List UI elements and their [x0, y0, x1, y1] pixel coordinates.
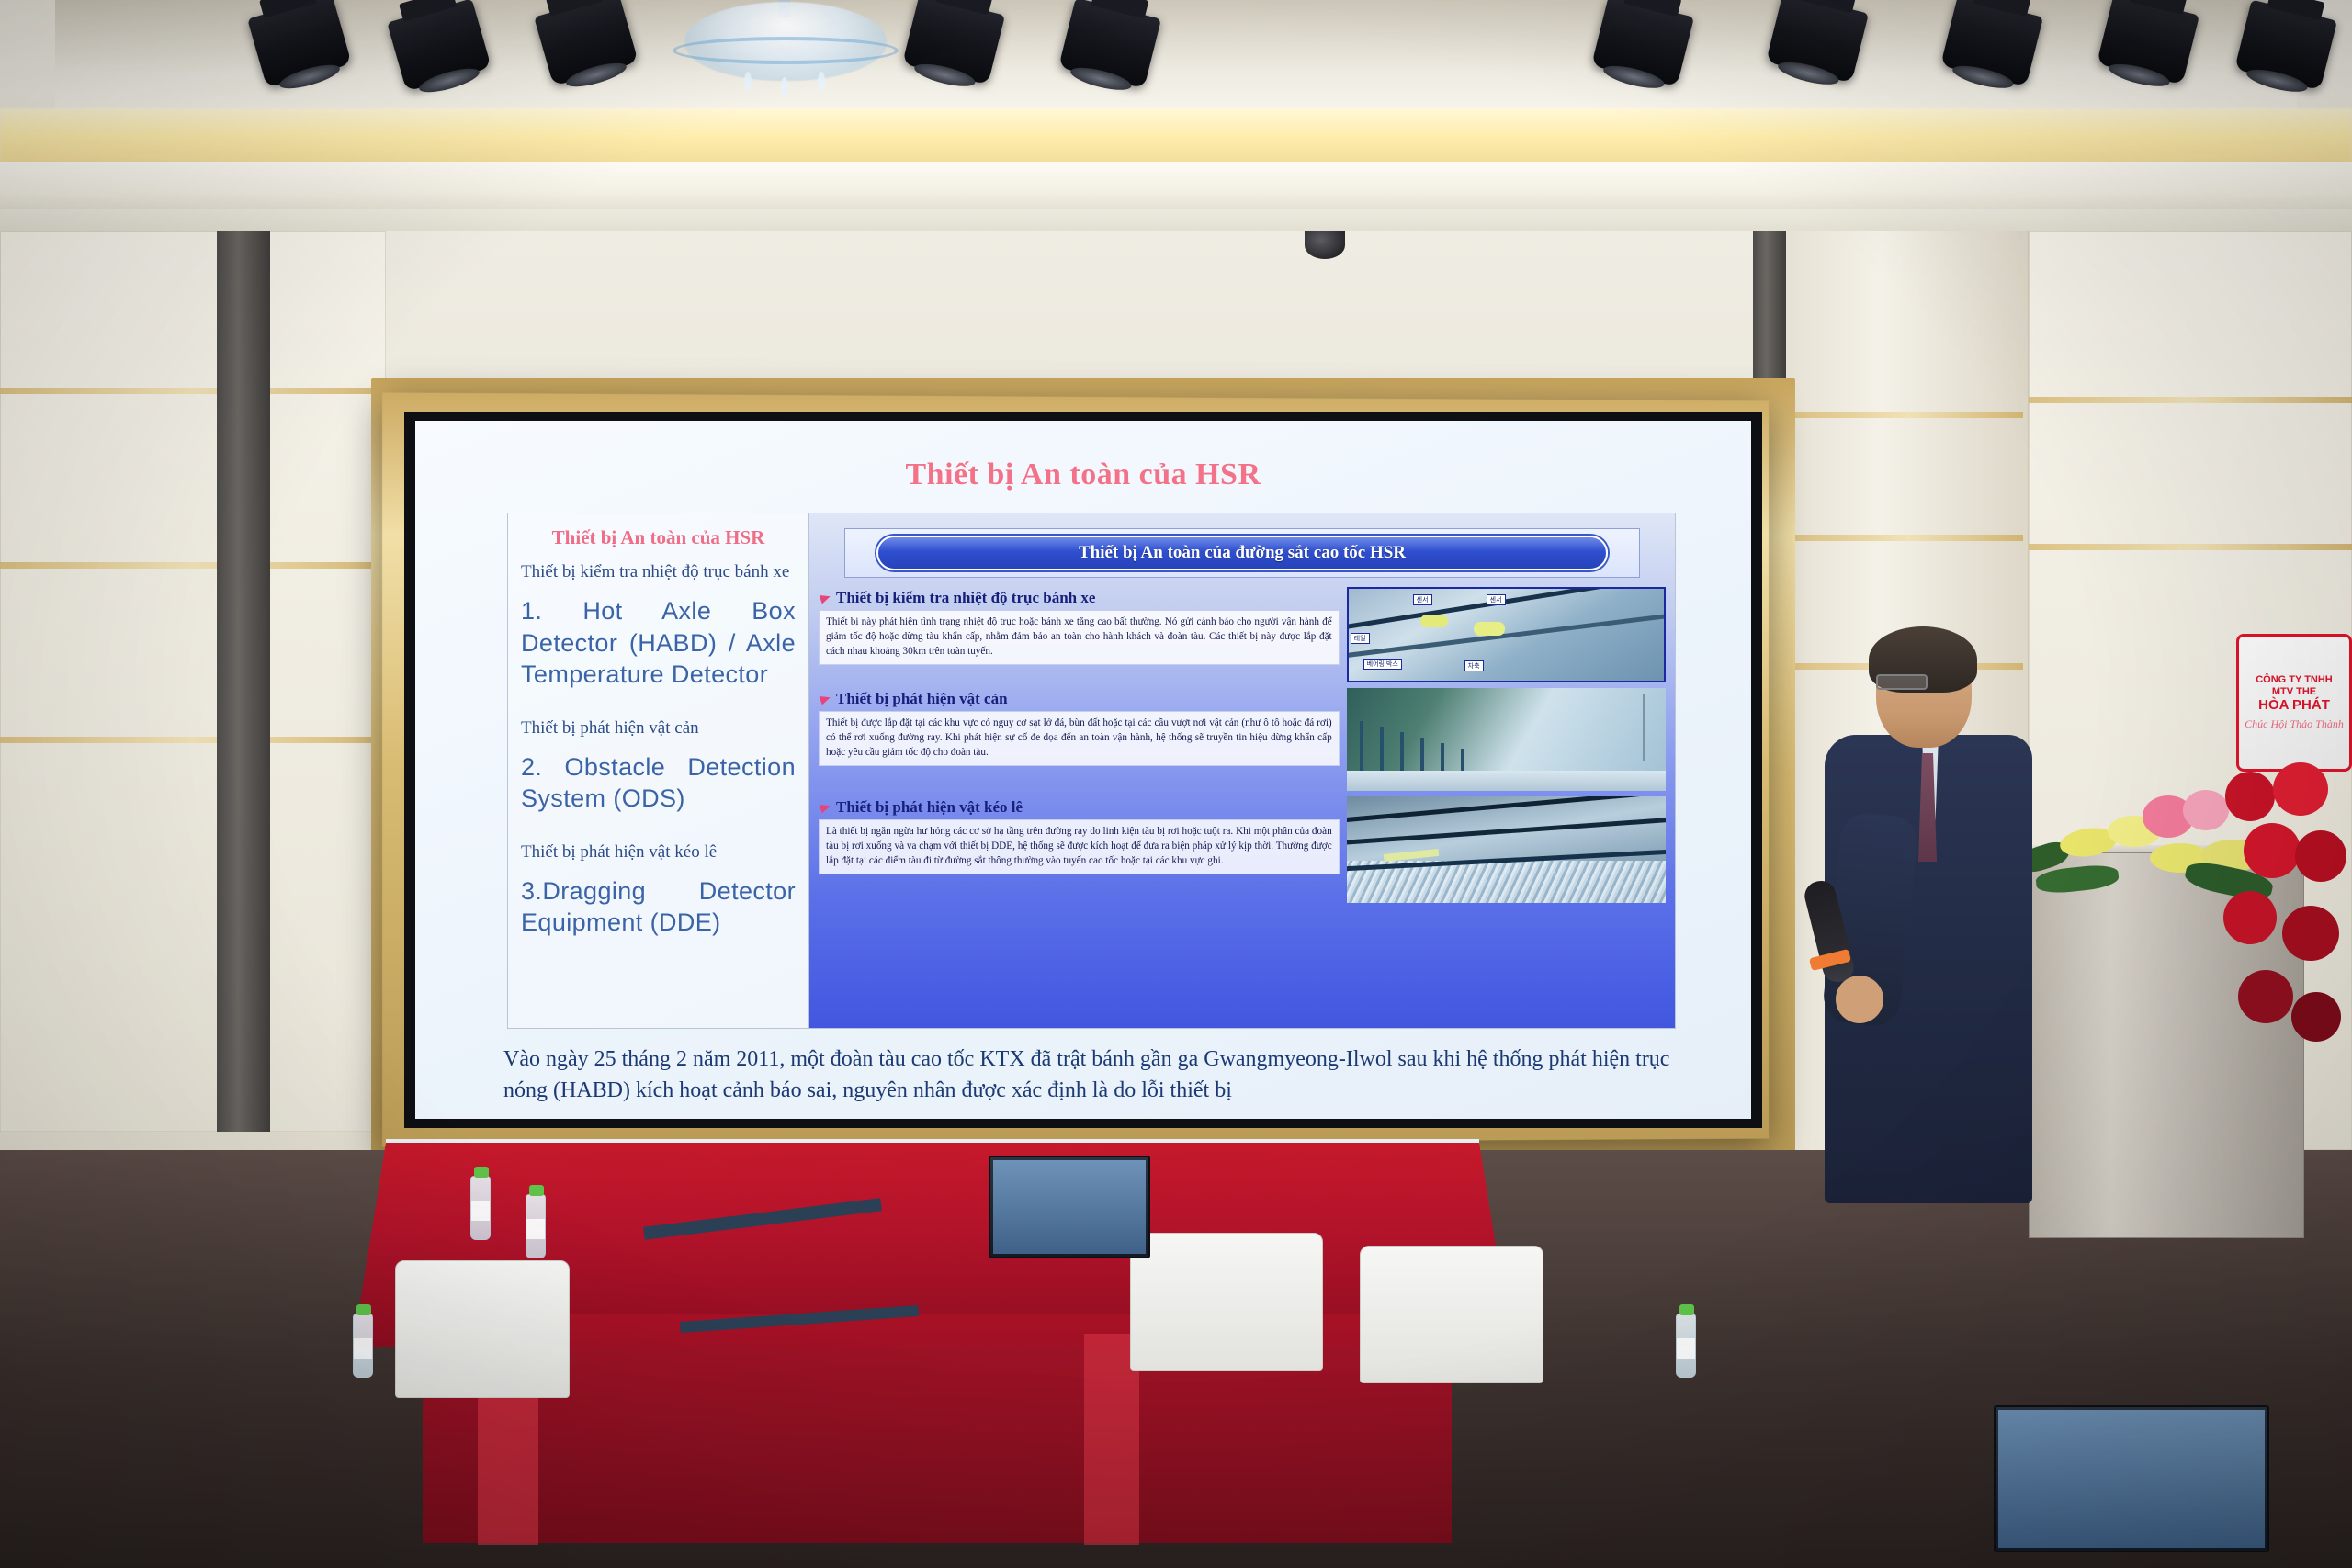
presenter — [1819, 634, 2040, 1203]
flower-red — [2295, 830, 2346, 882]
flower-red — [2223, 891, 2277, 944]
chair-back — [1360, 1246, 1543, 1383]
company-sign-line1: CÔNG TY TNHH MTV THE — [2245, 674, 2344, 696]
laptop[interactable] — [1994, 1405, 2269, 1552]
screen-outer-frame — [382, 392, 1769, 1146]
eyeglasses-icon — [1876, 674, 1928, 690]
ceiling-lip — [0, 162, 2352, 215]
laptop-screen — [993, 1160, 1146, 1254]
bottle-label — [354, 1338, 372, 1359]
flower-red — [2244, 823, 2301, 878]
wall-gold-trim — [0, 388, 386, 394]
ceiling-spotlight — [2234, 0, 2337, 90]
bottle-label — [1677, 1338, 1695, 1359]
wall-dark-column — [217, 231, 270, 1132]
flower-red — [2225, 772, 2275, 821]
presenter-hand — [1836, 976, 1883, 1023]
water-bottle — [1676, 1314, 1696, 1378]
water-bottle — [470, 1176, 491, 1240]
security-camera-dome — [1305, 231, 1345, 259]
red-flower-stand — [2220, 762, 2352, 1157]
wall-panel-left — [0, 231, 386, 1132]
ceiling-spotlight — [1766, 0, 1869, 83]
water-bottle — [526, 1194, 546, 1258]
chandelier — [634, 0, 937, 103]
company-sign-line3: Chúc Hội Thảo Thành — [2245, 717, 2344, 731]
wall-gold-trim — [1793, 412, 2023, 418]
ceiling-spotlight — [1591, 0, 1694, 86]
company-sign-line2: HÒA PHÁT — [2258, 697, 2330, 713]
wall-gold-trim — [2029, 397, 2352, 403]
flower-red — [2238, 970, 2293, 1023]
ceiling-spotlight — [1940, 0, 2043, 86]
wall-gold-trim — [1793, 535, 2023, 541]
chair-back — [1130, 1233, 1323, 1371]
company-sign: CÔNG TY TNHH MTV THE HÒA PHÁT Chúc Hội T… — [2236, 634, 2352, 772]
ceiling — [0, 0, 2352, 266]
wall-gold-trim — [2029, 544, 2352, 550]
laptop[interactable] — [989, 1156, 1150, 1258]
ceiling-spotlight — [2097, 0, 2199, 85]
chandelier-crystal — [744, 72, 752, 92]
chair-back — [395, 1260, 570, 1398]
flower-red — [2282, 906, 2339, 961]
bottle-label — [471, 1201, 490, 1221]
wall-gold-trim — [0, 737, 386, 743]
ceiling-spotlight — [902, 0, 1005, 85]
laptop-screen — [1998, 1410, 2265, 1548]
chandelier-ring — [673, 37, 899, 64]
conference-photo-scene: Thiết bị An toàn của HSR Thiết bị An toà… — [0, 0, 2352, 1568]
flower-red — [2273, 762, 2328, 816]
chandelier-crystal — [781, 77, 788, 97]
chandelier-crystal — [818, 72, 825, 92]
wall-gold-trim — [0, 562, 386, 569]
flower-red — [2291, 992, 2341, 1042]
water-bottle — [353, 1314, 373, 1378]
bottle-label — [526, 1219, 545, 1239]
